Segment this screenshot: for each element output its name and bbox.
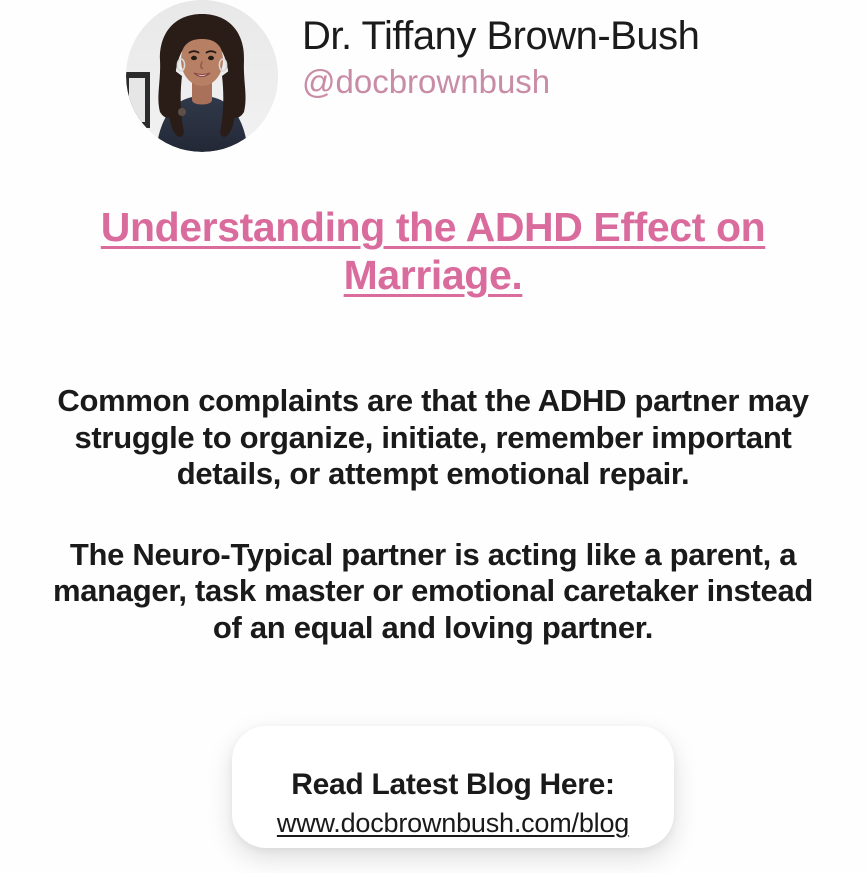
- identity-block: Dr. Tiffany Brown-Bush @docbrownbush: [302, 14, 699, 137]
- cta-heading: Read Latest Blog Here:: [291, 768, 614, 801]
- cta-card: Read Latest Blog Here: www.docbrownbush.…: [232, 726, 674, 848]
- page-title: Understanding the ADHD Effect on Marriag…: [0, 204, 866, 299]
- profile-photo-icon: [126, 0, 278, 152]
- blog-link[interactable]: www.docbrownbush.com/blog: [277, 808, 629, 839]
- profile-name: Dr. Tiffany Brown-Bush: [302, 14, 699, 59]
- body-copy: Common complaints are that the ADHD part…: [0, 352, 866, 677]
- profile-header: Dr. Tiffany Brown-Bush @docbrownbush: [126, 0, 699, 152]
- avatar[interactable]: [126, 0, 278, 152]
- body-paragraph-2: The Neuro-Typical partner is acting like…: [50, 537, 816, 647]
- profile-handle: @docbrownbush: [302, 62, 699, 102]
- body-paragraph-1: Common complaints are that the ADHD part…: [50, 383, 816, 493]
- social-post-card: Dr. Tiffany Brown-Bush @docbrownbush Und…: [0, 0, 866, 873]
